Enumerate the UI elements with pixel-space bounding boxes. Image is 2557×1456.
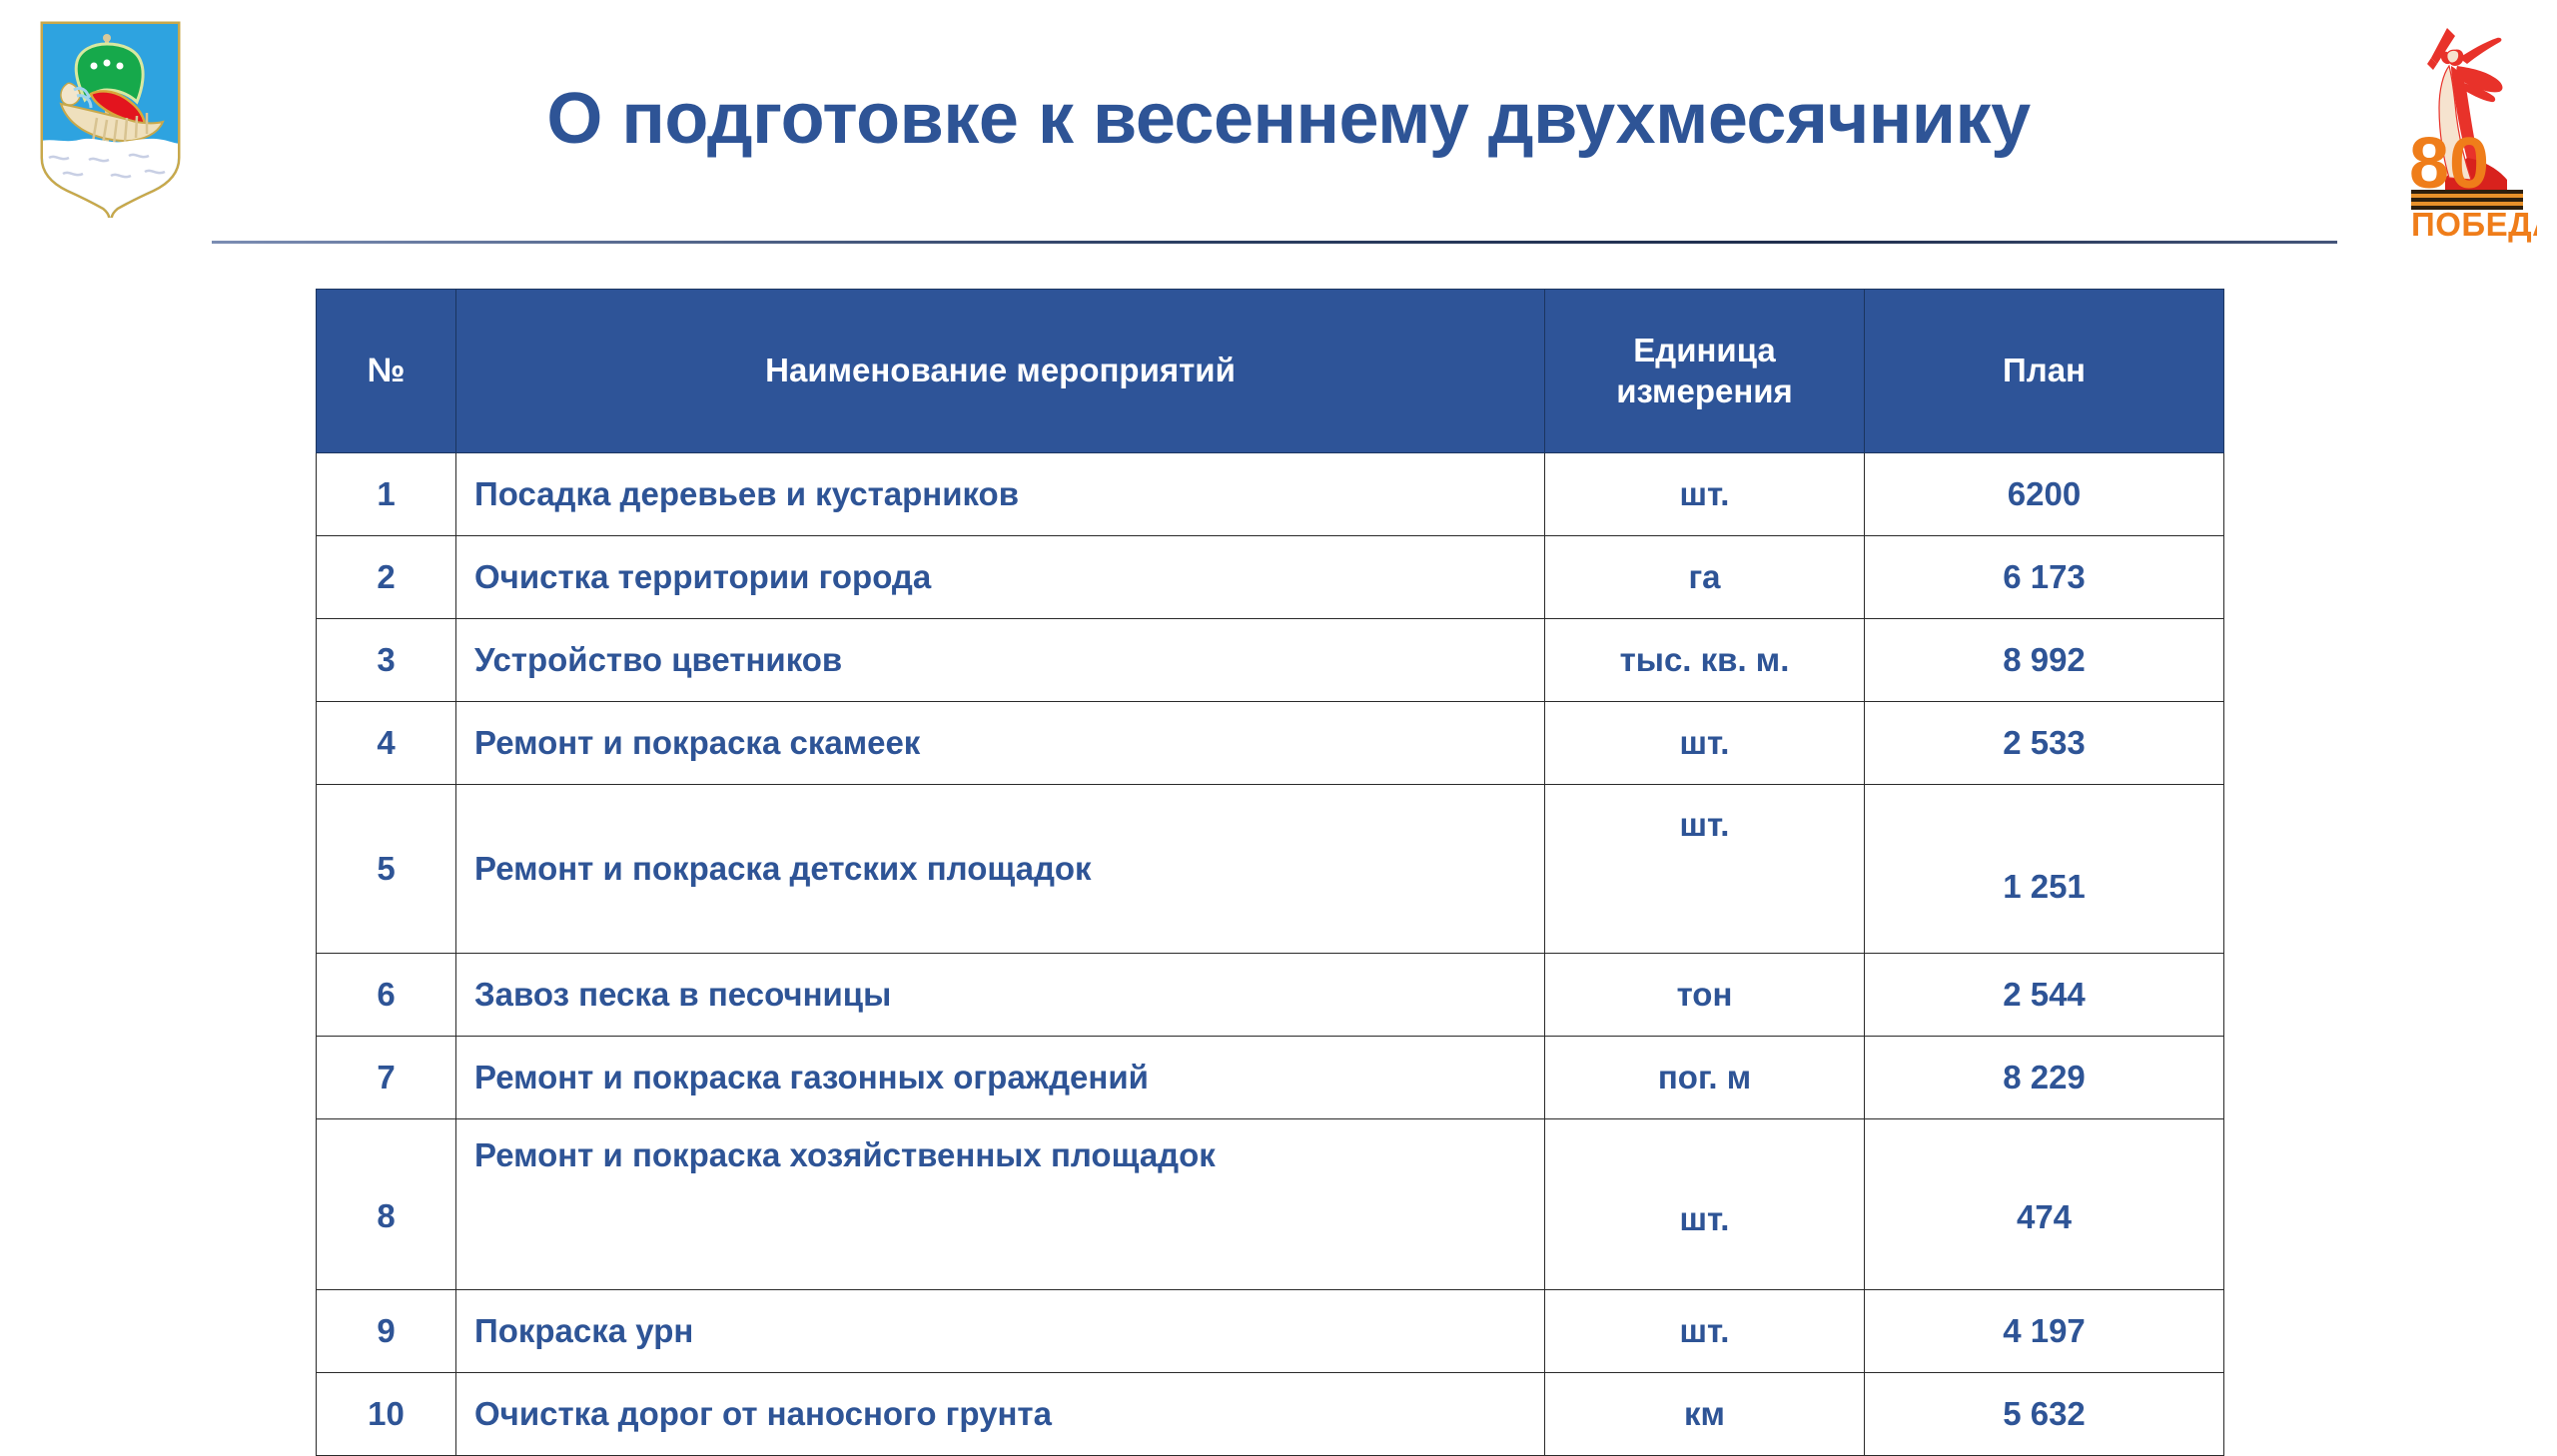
measures-table-container: № Наименование мероприятий Единица измер… bbox=[316, 289, 2223, 1456]
cell-number: 2 bbox=[317, 536, 456, 619]
victory-80-logo-icon: 80 ПОБЕДА! bbox=[2397, 8, 2537, 243]
cell-number: 3 bbox=[317, 619, 456, 702]
table-row: 10 Очистка дорог от наносного грунта км … bbox=[317, 1373, 2224, 1456]
cell-number: 8 bbox=[317, 1119, 456, 1290]
cell-name: Посадка деревьев и кустарников bbox=[456, 453, 1545, 536]
cell-number: 9 bbox=[317, 1290, 456, 1373]
column-header-unit-line2: измерения bbox=[1616, 372, 1793, 409]
cell-unit: тыс. кв. м. bbox=[1545, 619, 1865, 702]
cell-plan: 6 173 bbox=[1865, 536, 2224, 619]
column-header-unit-line1: Единица bbox=[1633, 332, 1776, 368]
cell-unit: тон bbox=[1545, 954, 1865, 1037]
cell-name: Покраска урн bbox=[456, 1290, 1545, 1373]
cell-plan: 4 197 bbox=[1865, 1290, 2224, 1373]
cell-number: 6 bbox=[317, 954, 456, 1037]
slide-canvas: О подготовке к весеннему двухмесячнику bbox=[0, 0, 2557, 1438]
cell-name: Устройство цветников bbox=[456, 619, 1545, 702]
cell-plan: 8 992 bbox=[1865, 619, 2224, 702]
column-header-number: № bbox=[317, 290, 456, 453]
cell-unit: шт. bbox=[1545, 1119, 1865, 1290]
cell-unit: шт. bbox=[1545, 1290, 1865, 1373]
cell-plan: 2 544 bbox=[1865, 954, 2224, 1037]
cell-plan: 474 bbox=[1865, 1119, 2224, 1290]
cell-unit: км bbox=[1545, 1373, 1865, 1456]
cell-unit: шт. bbox=[1545, 785, 1865, 954]
cell-unit: пог. м bbox=[1545, 1037, 1865, 1119]
cell-number: 7 bbox=[317, 1037, 456, 1119]
cell-name: Ремонт и покраска скамеек bbox=[456, 702, 1545, 785]
table-row: 1 Посадка деревьев и кустарников шт. 620… bbox=[317, 453, 2224, 536]
svg-text:ПОБЕДА!: ПОБЕДА! bbox=[2411, 206, 2537, 243]
cell-name: Ремонт и покраска газонных ограждений bbox=[456, 1037, 1545, 1119]
table-body: 1 Посадка деревьев и кустарников шт. 620… bbox=[317, 453, 2224, 1456]
cell-unit: шт. bbox=[1545, 453, 1865, 536]
table-row: 8 Ремонт и покраска хозяйственных площад… bbox=[317, 1119, 2224, 1290]
cell-unit: га bbox=[1545, 536, 1865, 619]
table-row: 2 Очистка территории города га 6 173 bbox=[317, 536, 2224, 619]
cell-plan: 8 229 bbox=[1865, 1037, 2224, 1119]
table-row: 3 Устройство цветников тыс. кв. м. 8 992 bbox=[317, 619, 2224, 702]
table-header: № Наименование мероприятий Единица измер… bbox=[317, 290, 2224, 453]
table-row: 7 Ремонт и покраска газонных ограждений … bbox=[317, 1037, 2224, 1119]
cell-plan: 1 251 bbox=[1865, 785, 2224, 954]
cell-name: Ремонт и покраска детских площадок bbox=[456, 785, 1545, 954]
measures-table: № Наименование мероприятий Единица измер… bbox=[316, 289, 2224, 1456]
cell-unit: шт. bbox=[1545, 702, 1865, 785]
cell-name: Ремонт и покраска хозяйственных площадок bbox=[456, 1119, 1545, 1290]
cell-number: 1 bbox=[317, 453, 456, 536]
cell-name: Очистка дорог от наносного грунта bbox=[456, 1373, 1545, 1456]
cell-name: Завоз песка в песочницы bbox=[456, 954, 1545, 1037]
cell-number: 4 bbox=[317, 702, 456, 785]
table-row: 5 Ремонт и покраска детских площадок шт.… bbox=[317, 785, 2224, 954]
table-row: 4 Ремонт и покраска скамеек шт. 2 533 bbox=[317, 702, 2224, 785]
column-header-unit: Единица измерения bbox=[1545, 290, 1865, 453]
cell-name: Очистка территории города bbox=[456, 536, 1545, 619]
table-header-row: № Наименование мероприятий Единица измер… bbox=[317, 290, 2224, 453]
coat-of-arms-icon bbox=[33, 18, 188, 218]
column-header-plan: План bbox=[1865, 290, 2224, 453]
table-row: 6 Завоз песка в песочницы тон 2 544 bbox=[317, 954, 2224, 1037]
cell-number: 10 bbox=[317, 1373, 456, 1456]
column-header-name: Наименование мероприятий bbox=[456, 290, 1545, 453]
svg-text:80: 80 bbox=[2409, 124, 2489, 204]
cell-plan: 2 533 bbox=[1865, 702, 2224, 785]
cell-plan: 6200 bbox=[1865, 453, 2224, 536]
title-divider bbox=[212, 241, 2337, 244]
page-title: О подготовке к весеннему двухмесячнику bbox=[230, 82, 2347, 158]
cell-number: 5 bbox=[317, 785, 456, 954]
cell-plan: 5 632 bbox=[1865, 1373, 2224, 1456]
table-row: 9 Покраска урн шт. 4 197 bbox=[317, 1290, 2224, 1373]
